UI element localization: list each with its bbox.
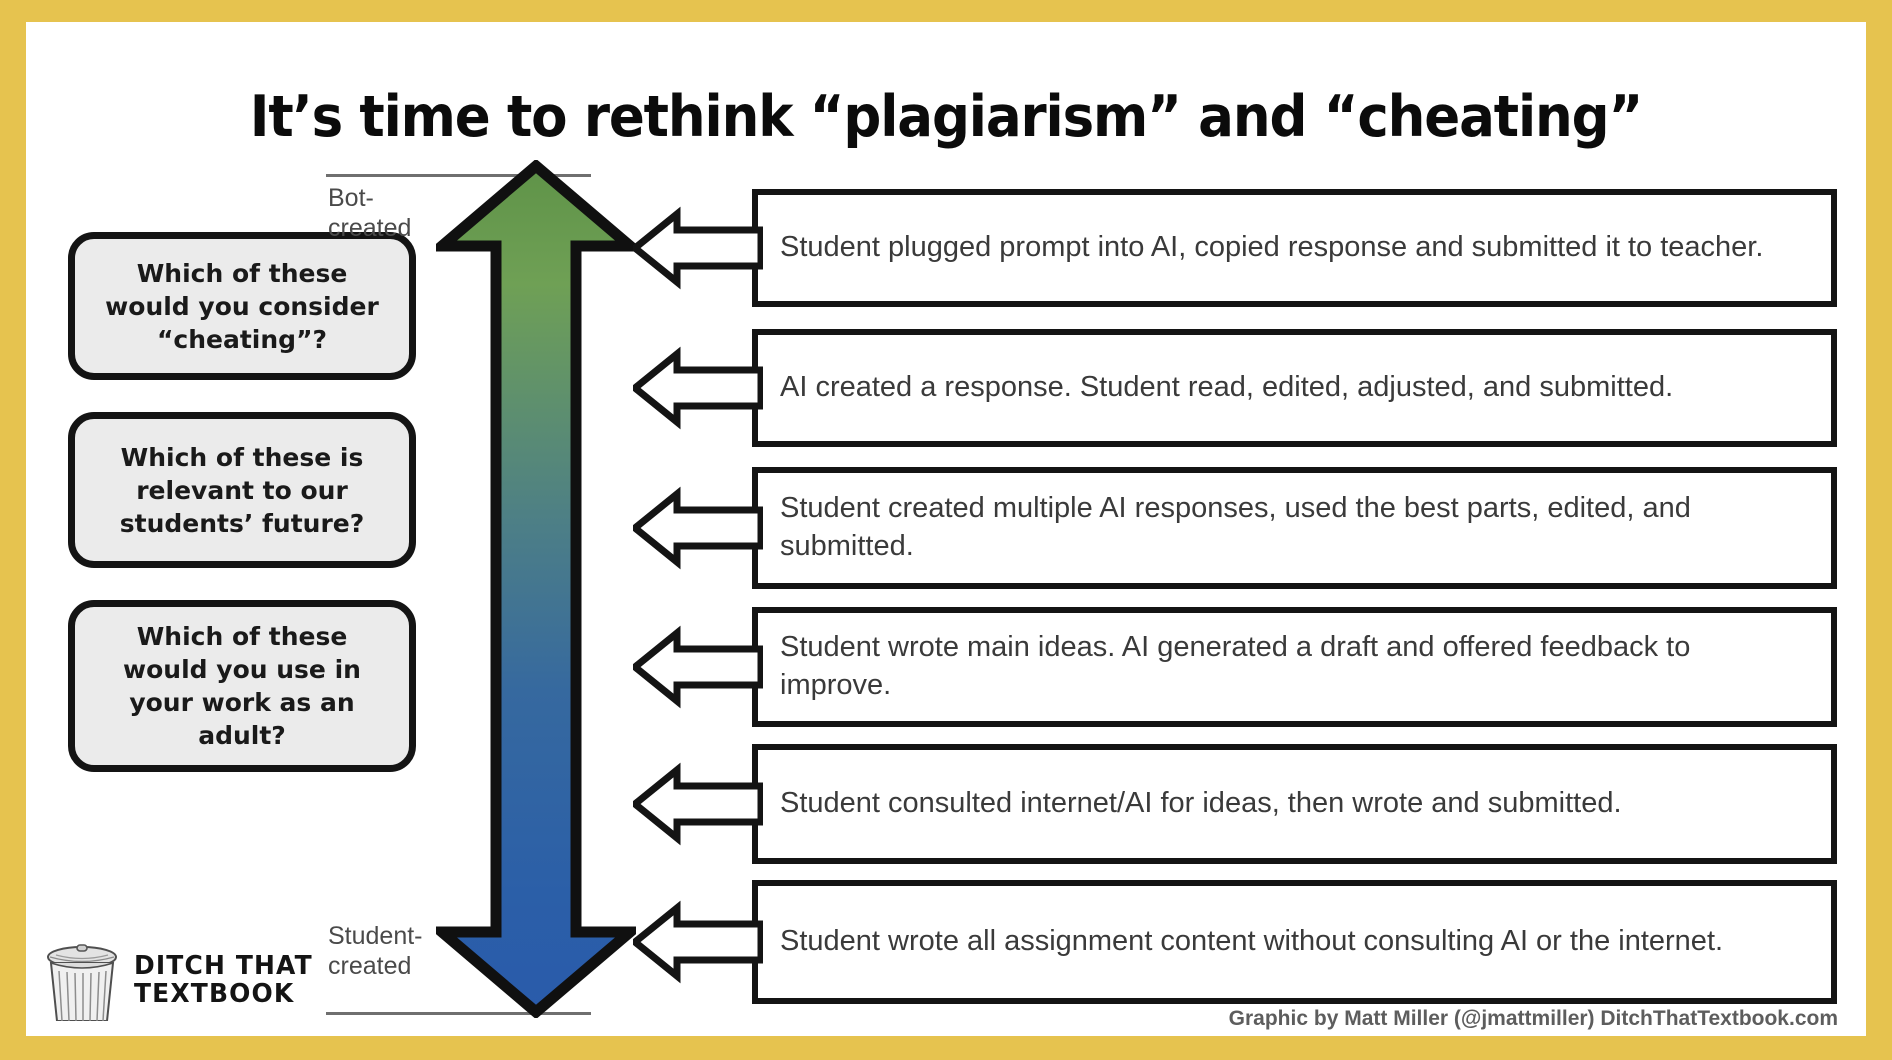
brand-logo: DITCH THAT TEXTBOOK — [40, 938, 360, 1024]
statement-text: AI created a response. Student read, edi… — [780, 369, 1673, 407]
question-box-label: Which of these would you consider “cheat… — [95, 257, 389, 356]
infographic-canvas: It’s time to rethink “plagiarism” and “c… — [26, 22, 1866, 1036]
trash-can-icon — [40, 941, 124, 1021]
statement-box: Student created multiple AI responses, u… — [752, 467, 1837, 589]
question-box-relevance: Which of these is relevant to our studen… — [68, 412, 416, 568]
question-box-label: Which of these would you use in your wor… — [95, 620, 389, 752]
statement-box: Student wrote all assignment content wit… — [752, 880, 1837, 1004]
statement-box: Student plugged prompt into AI, copied r… — [752, 189, 1837, 307]
double-headed-arrow-icon — [436, 160, 636, 1018]
statement-box: AI created a response. Student read, edi… — [752, 329, 1837, 447]
question-box-cheating: Which of these would you consider “cheat… — [68, 232, 416, 380]
statement-text: Student consulted internet/AI for ideas,… — [780, 785, 1622, 823]
question-box-label: Which of these is relevant to our studen… — [95, 441, 389, 540]
page-title: It’s time to rethink “plagiarism” and “c… — [90, 84, 1801, 150]
statement-box: Student wrote main ideas. AI generated a… — [752, 607, 1837, 727]
brand-logo-text: DITCH THAT TEXTBOOK — [134, 953, 313, 1008]
question-box-adult-work: Which of these would you use in your wor… — [68, 600, 416, 772]
credit-line: Graphic by Matt Miller (@jmattmiller) Di… — [1229, 1007, 1838, 1031]
arrow-left-icon — [633, 894, 763, 990]
arrow-left-icon — [633, 480, 763, 576]
statement-text: Student plugged prompt into AI, copied r… — [780, 229, 1763, 267]
statement-text: Student wrote all assignment content wit… — [780, 923, 1723, 961]
arrow-left-icon — [633, 756, 763, 852]
statement-text: Student wrote main ideas. AI generated a… — [780, 629, 1809, 704]
arrow-left-icon — [633, 200, 763, 296]
arrow-left-icon — [633, 340, 763, 436]
gold-frame: It’s time to rethink “plagiarism” and “c… — [0, 0, 1892, 1060]
arrow-left-icon — [633, 619, 763, 715]
axis-label-bot-created: Bot- created — [328, 184, 411, 243]
statement-box: Student consulted internet/AI for ideas,… — [752, 744, 1837, 864]
statement-text: Student created multiple AI responses, u… — [780, 490, 1809, 565]
